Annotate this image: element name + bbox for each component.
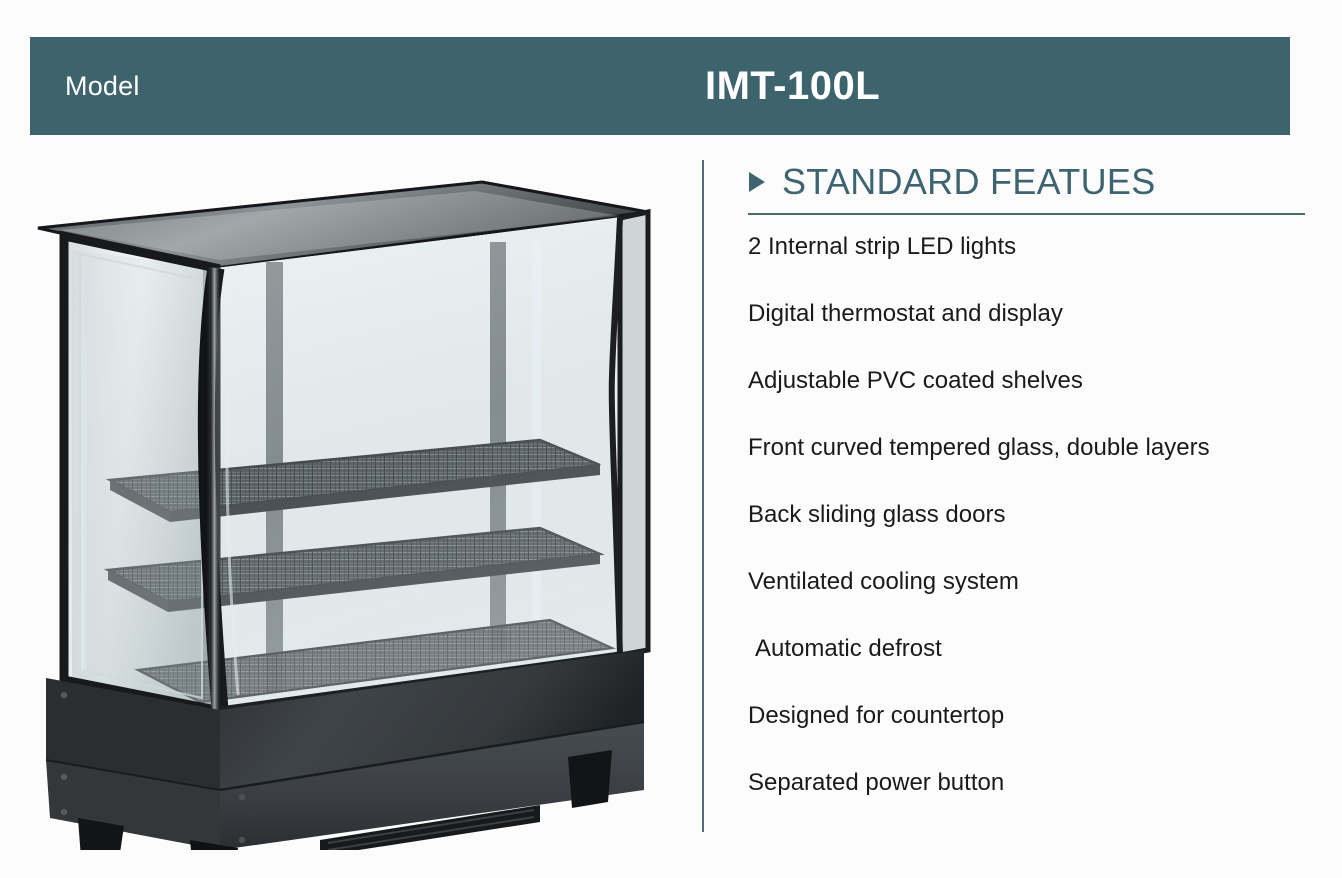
features-list: 2 Internal strip LED lights Digital ther… [748,232,1308,835]
model-header-bar: Model IMT-100L [30,37,1290,135]
features-heading-underline [748,213,1305,215]
list-item: Separated power button [748,768,1308,835]
list-item: Digital thermostat and display [748,299,1308,366]
triangle-right-icon [748,171,766,193]
list-item: Ventilated cooling system [748,567,1308,634]
list-item: 2 Internal strip LED lights [748,232,1308,299]
model-label: Model [65,71,705,102]
right-side-glass-panel [620,212,648,655]
left-side-glass-panel [64,236,216,710]
standard-features-panel: STANDARD FEATUES 2 Internal strip LED li… [748,160,1308,835]
features-heading: STANDARD FEATUES [782,161,1156,203]
list-item: Automatic defrost [748,634,1308,701]
list-item: Designed for countertop [748,701,1308,768]
list-item: Adjustable PVC coated shelves [748,366,1308,433]
list-item: Back sliding glass doors [748,500,1308,567]
features-heading-row: STANDARD FEATUES [748,160,1308,204]
refrigerated-display-case-illustration [20,150,680,850]
vertical-divider [702,160,704,832]
front-curved-tempered-glass [206,218,620,710]
model-number: IMT-100L [705,64,880,109]
product-image-pane [20,150,680,850]
spec-sheet-page: Model IMT-100L [0,0,1342,878]
list-item: Front curved tempered glass, double laye… [748,433,1308,500]
